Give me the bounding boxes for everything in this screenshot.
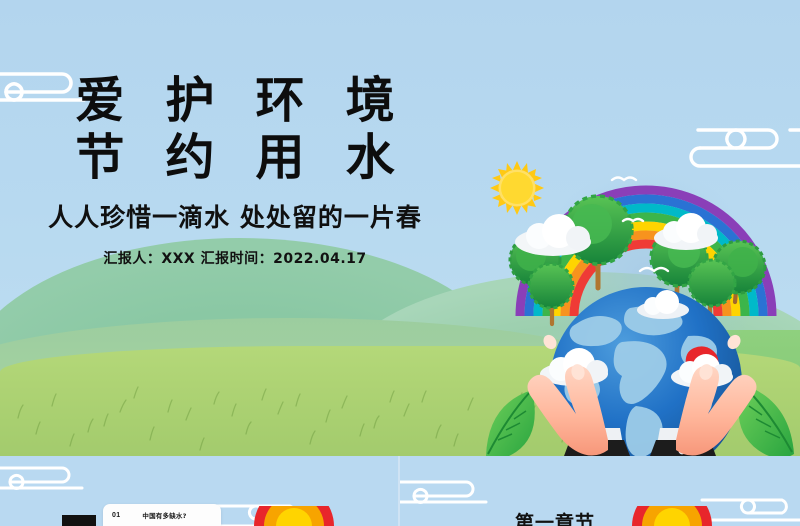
chinese-cloud-pattern-thumb-a1	[0, 458, 94, 492]
contents-item-card[interactable]: 01 中国有多缺水?	[103, 504, 221, 526]
hands-holding-earth-illustration	[480, 128, 800, 456]
contents-accent-bar	[62, 515, 96, 526]
contents-item-number: 01	[112, 512, 120, 519]
presentation-canvas: 爱 护 环 境 节 约 用 水 人人珍惜一滴水 处处留的一片春 汇报人：XXX …	[0, 0, 800, 526]
chinese-cloud-pattern-thumb-b1	[400, 472, 498, 506]
sun-icon	[490, 161, 544, 215]
contents-item-label: 中国有多缺水?	[142, 510, 186, 520]
chapter-title: 第一章节	[470, 508, 640, 526]
slide-thumbnail-strip: 01 中国有多缺水?	[0, 456, 800, 526]
thumbnail-contents-slide[interactable]: 01 中国有多缺水?	[0, 456, 398, 526]
page-title-line-1: 爱 护 环 境	[0, 72, 470, 129]
page-title-line-2: 节 约 用 水	[0, 129, 470, 186]
subtitle: 人人珍惜一滴水 处处留的一片春	[0, 203, 470, 233]
sunrise-arc-thumb-b	[630, 506, 714, 526]
sunrise-arc-thumb-a	[252, 506, 336, 526]
presenter-meta: 汇报人：XXX 汇报时间：2022.04.17	[0, 250, 470, 268]
title-block: 爱 护 环 境 节 约 用 水 人人珍惜一滴水 处处留的一片春 汇报人：XXX …	[0, 72, 470, 268]
cover-slide[interactable]: 爱 护 环 境 节 约 用 水 人人珍惜一滴水 处处留的一片春 汇报人：XXX …	[0, 0, 800, 456]
